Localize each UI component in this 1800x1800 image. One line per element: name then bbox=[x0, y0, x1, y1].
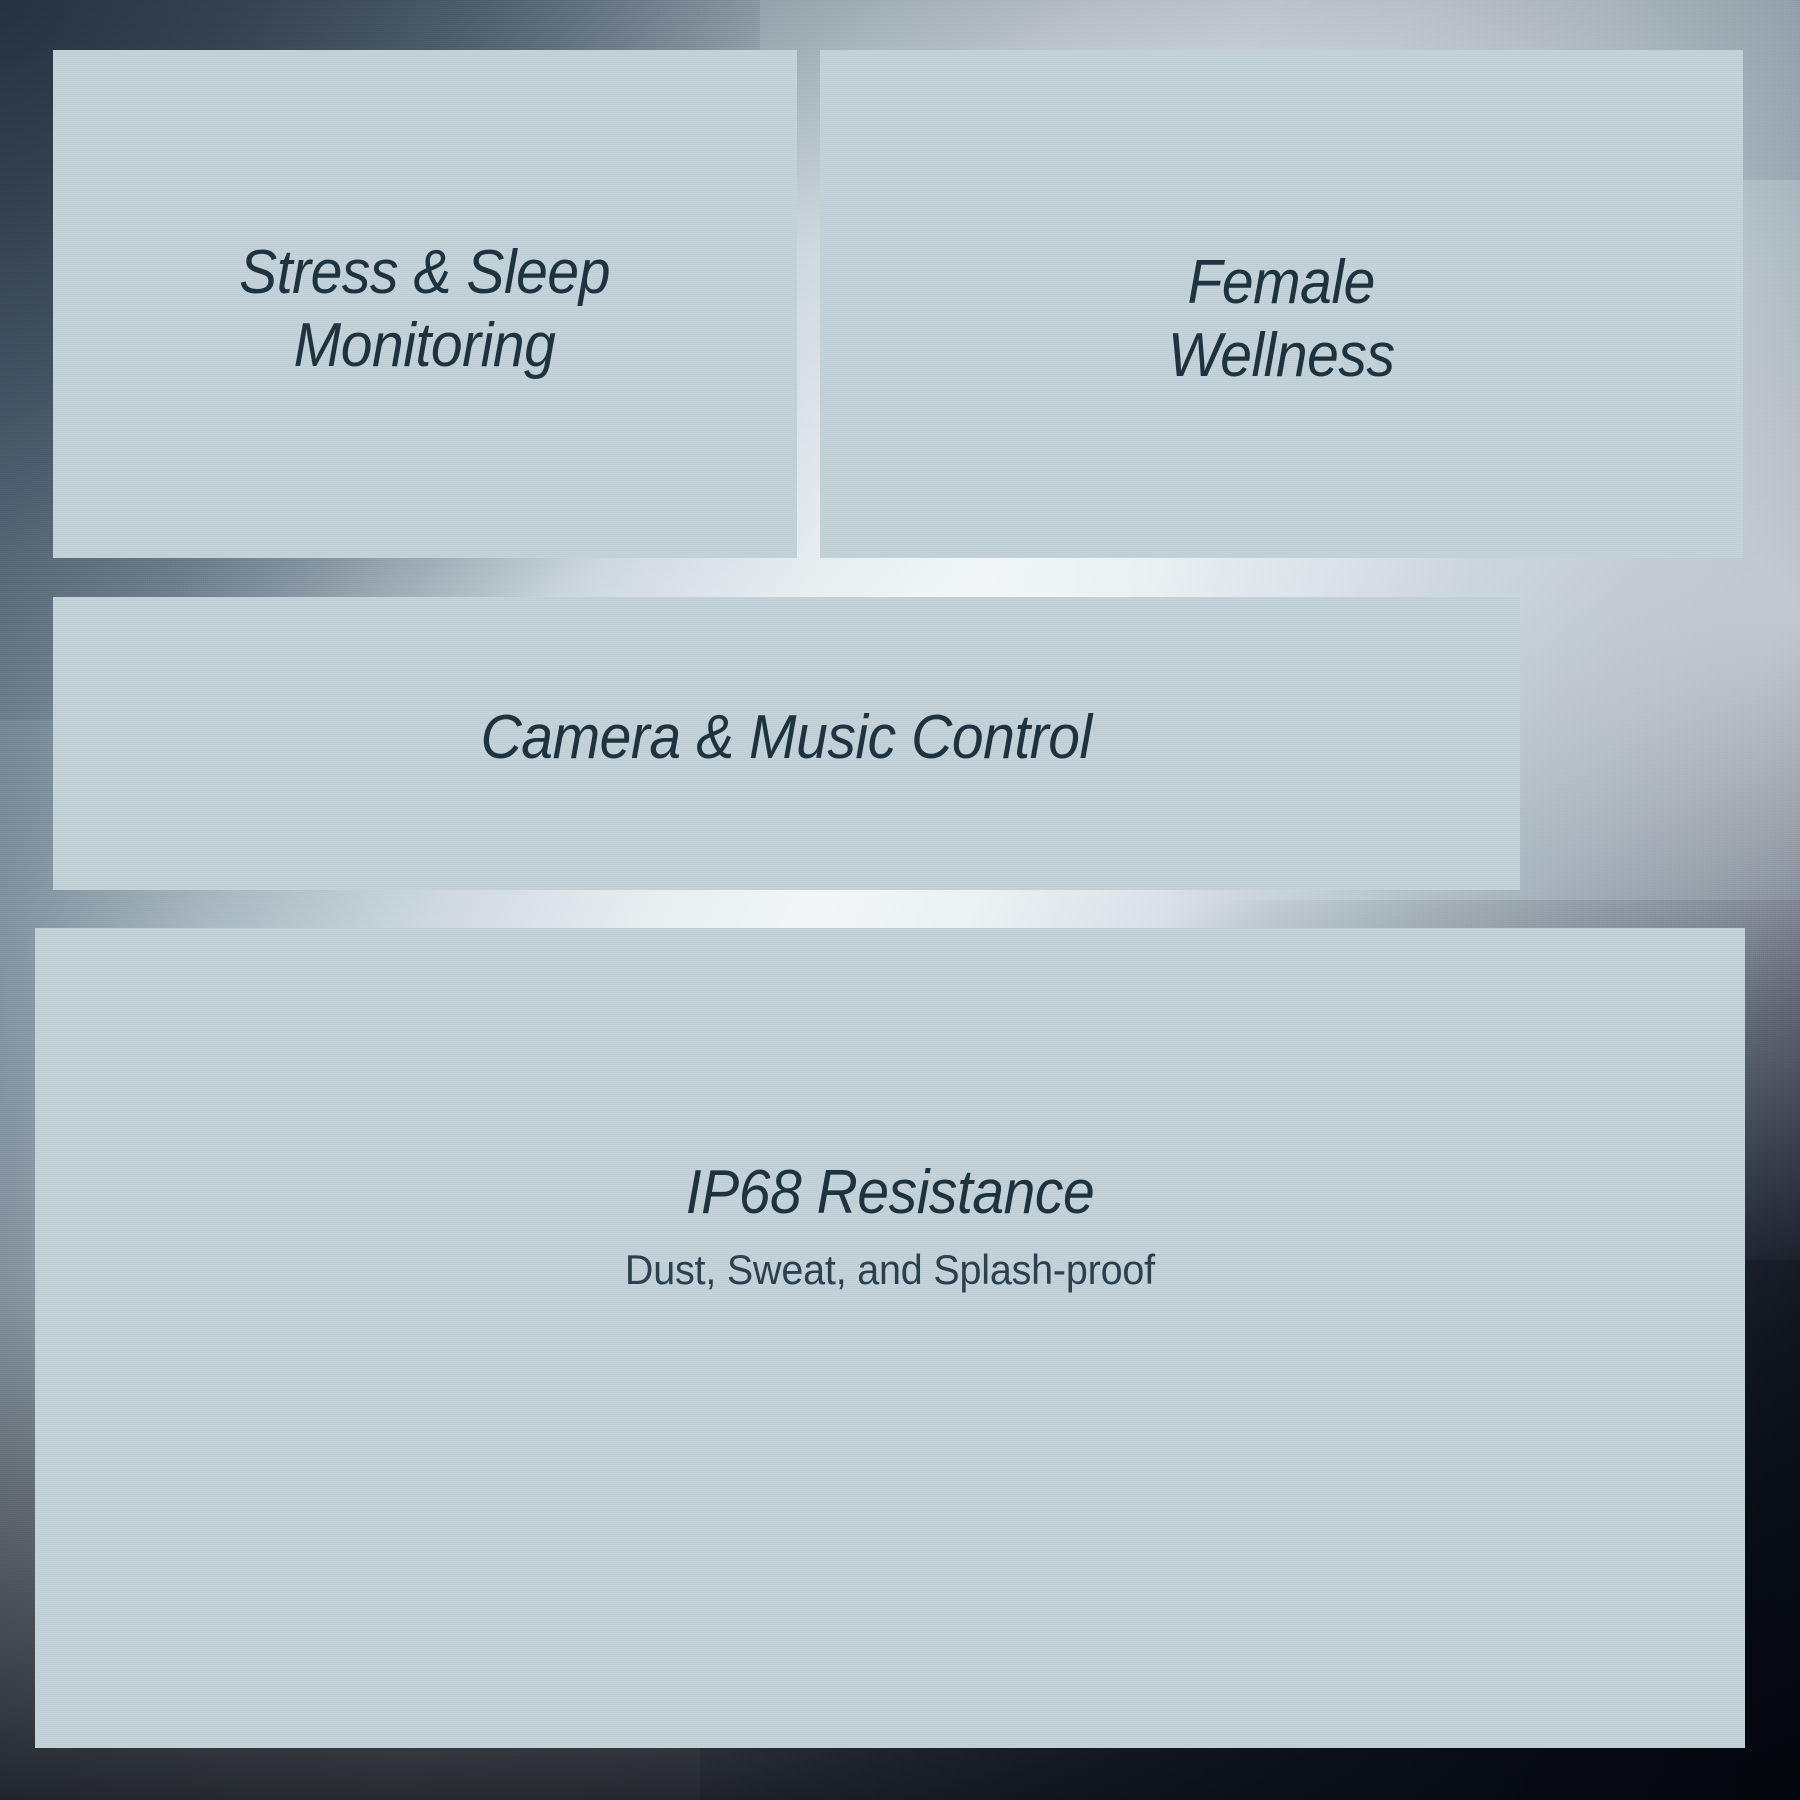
feature-panel-ip68-resistance[interactable]: IP68 Resistance Dust, Sweat, and Splash-… bbox=[35, 928, 1745, 1748]
feature-panel-camera-music-control[interactable]: Camera & Music Control bbox=[53, 597, 1520, 890]
feature-title-camera-music-control: Camera & Music Control bbox=[481, 701, 1092, 774]
feature-panel-stress-sleep[interactable]: Stress & Sleep Monitoring bbox=[53, 50, 797, 558]
feature-subtitle-ip68-resistance: Dust, Sweat, and Splash-proof bbox=[625, 1243, 1155, 1298]
feature-title-female-wellness: Female Wellness bbox=[1168, 246, 1395, 392]
feature-title-stress-sleep: Stress & Sleep Monitoring bbox=[240, 236, 611, 382]
feature-title-ip68-resistance: IP68 Resistance bbox=[686, 1156, 1094, 1229]
feature-panel-female-wellness[interactable]: Female Wellness bbox=[820, 50, 1743, 558]
